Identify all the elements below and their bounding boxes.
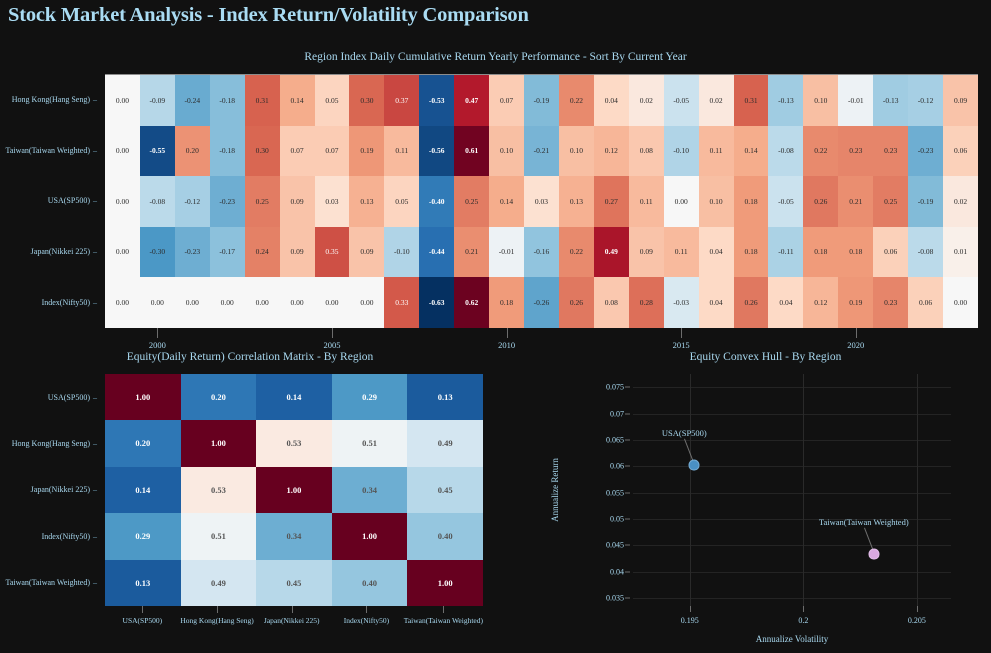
heatmap-cell: 0.31 — [734, 75, 769, 126]
correlation-cell: 0.13 — [105, 560, 181, 606]
correlation-cell: 0.53 — [181, 467, 257, 513]
correlation-cell: 0.20 — [105, 420, 181, 466]
heatmap-cell: 0.31 — [245, 75, 280, 126]
heatmap-cell: 0.26 — [803, 176, 838, 227]
heatmap-cell: 0.00 — [280, 277, 315, 328]
scatter-x-tick-label: 0.2 — [798, 616, 808, 625]
heatmap-cell: -0.44 — [419, 227, 454, 278]
heatmap-cell: 0.18 — [489, 277, 524, 328]
heatmap-cell: 0.62 — [454, 277, 489, 328]
correlation-cell: 0.45 — [256, 560, 332, 606]
scatter-point[interactable] — [689, 460, 700, 471]
heatmap-cell: -0.40 — [419, 176, 454, 227]
heatmap-cell: 0.22 — [559, 227, 594, 278]
correlation-row-label: Taiwan(Taiwan Weighted) — [0, 560, 102, 606]
correlation-row-label: Index(Nifty50) — [0, 513, 102, 559]
heatmap-cell: 0.23 — [838, 126, 873, 177]
heatmap-cell: 0.10 — [559, 126, 594, 177]
heatmap-grid: 0.00-0.09-0.24-0.180.310.140.050.300.37-… — [105, 74, 978, 328]
correlation-cell: 0.29 — [332, 374, 408, 420]
correlation-cell: 1.00 — [181, 420, 257, 466]
scatter-y-tick — [625, 387, 630, 388]
scatter-x-tick — [803, 606, 804, 612]
heatmap-cell: 0.14 — [734, 126, 769, 177]
scatter-gridline-v — [803, 374, 804, 606]
correlation-cell: 1.00 — [105, 374, 181, 420]
heatmap-cell: 0.18 — [803, 227, 838, 278]
correlation-column-label: Index(Nifty50) — [329, 606, 404, 630]
heatmap-cell: -0.13 — [768, 75, 803, 126]
heatmap-cell: 0.00 — [175, 277, 210, 328]
heatmap-cell: 0.26 — [559, 277, 594, 328]
correlation-cell: 0.29 — [105, 513, 181, 559]
heatmap-cell: 0.07 — [489, 75, 524, 126]
heatmap-cell: 0.19 — [838, 277, 873, 328]
heatmap-cell: 0.04 — [768, 277, 803, 328]
heatmap-cell: 0.27 — [594, 176, 629, 227]
heatmap-cell: 0.35 — [315, 227, 350, 278]
heatmap-cell: -0.08 — [140, 176, 175, 227]
heatmap-cell: -0.63 — [419, 277, 454, 328]
heatmap-cell: -0.03 — [664, 277, 699, 328]
heatmap-cell: -0.10 — [384, 227, 419, 278]
scatter-y-tick-label: 0.05 — [610, 515, 624, 524]
scatter-y-tick — [625, 492, 630, 493]
correlation-row-label: Hong Kong(Hang Seng) — [0, 420, 102, 466]
scatter-x-axis: 0.1950.20.205 — [633, 606, 951, 628]
heatmap-cell: 0.09 — [280, 227, 315, 278]
scatter-point-label: Taiwan(Taiwan Weighted) — [819, 517, 909, 527]
heatmap-cell: -0.23 — [908, 126, 943, 177]
heatmap-cell: 0.22 — [803, 126, 838, 177]
heatmap-cell: -0.18 — [210, 126, 245, 177]
correlation-matrix-panel: Equity(Daily Return) Correlation Matrix … — [0, 346, 500, 653]
correlation-cell: 0.14 — [105, 467, 181, 513]
heatmap-cell: 0.06 — [873, 227, 908, 278]
heatmap-cell: 0.00 — [315, 277, 350, 328]
scatter-y-tick-label: 0.075 — [606, 383, 624, 392]
correlation-cell: 0.49 — [407, 420, 483, 466]
heatmap-cell: 0.09 — [629, 227, 664, 278]
correlation-row-label: Japan(Nikkei 225) — [0, 467, 102, 513]
convex-hull-scatter-panel: Equity Convex Hull - By Region 0.0350.04… — [540, 346, 991, 653]
heatmap-cell: 0.28 — [629, 277, 664, 328]
correlation-column-label: Hong Kong(Hang Seng) — [180, 606, 255, 630]
page-title: Stock Market Analysis - Index Return/Vol… — [8, 4, 529, 27]
heatmap-cell: -0.17 — [210, 227, 245, 278]
correlation-cell: 0.51 — [332, 420, 408, 466]
heatmap-cell: 0.25 — [245, 176, 280, 227]
heatmap-cell: 0.09 — [349, 227, 384, 278]
correlation-row-labels: USA(SP500)Hong Kong(Hang Seng)Japan(Nikk… — [0, 374, 102, 606]
heatmap-cell: 0.12 — [594, 126, 629, 177]
heatmap-cell: -0.01 — [838, 75, 873, 126]
heatmap-cell: -0.24 — [175, 75, 210, 126]
correlation-cell: 0.34 — [332, 467, 408, 513]
scatter-y-tick — [625, 413, 630, 414]
heatmap-x-tick — [507, 328, 508, 338]
scatter-gridline-v — [917, 374, 918, 606]
heatmap-cell: 0.01 — [943, 227, 978, 278]
scatter-y-tick — [625, 598, 630, 599]
heatmap-cell: -0.23 — [175, 227, 210, 278]
scatter-y-tick — [625, 571, 630, 572]
heatmap-cell: 0.00 — [349, 277, 384, 328]
heatmap-cell: -0.53 — [419, 75, 454, 126]
heatmap-cell: 0.13 — [559, 176, 594, 227]
correlation-column-label: Taiwan(Taiwan Weighted) — [404, 606, 483, 630]
correlation-cell: 0.13 — [407, 374, 483, 420]
heatmap-cell: 0.19 — [349, 126, 384, 177]
heatmap-row-label: Index(Nifty50) — [0, 277, 102, 328]
heatmap-cell: -0.12 — [908, 75, 943, 126]
heatmap-cell: 0.00 — [210, 277, 245, 328]
heatmap-cell: 0.00 — [105, 176, 140, 227]
heatmap-row-label: Hong Kong(Hang Seng) — [0, 74, 102, 125]
heatmap-cell: 0.18 — [838, 227, 873, 278]
scatter-y-tick — [625, 519, 630, 520]
scatter-x-tick-label: 0.195 — [681, 616, 699, 625]
scatter-point[interactable] — [868, 549, 879, 560]
correlation-cell: 0.40 — [332, 560, 408, 606]
heatmap-cell: 0.02 — [629, 75, 664, 126]
heatmap-cell: -0.30 — [140, 227, 175, 278]
heatmap-cell: 0.02 — [699, 75, 734, 126]
heatmap-cell: 0.30 — [245, 126, 280, 177]
heatmap-cell: 0.00 — [105, 75, 140, 126]
heatmap-cell: 0.11 — [629, 176, 664, 227]
heatmap-cell: 0.00 — [664, 176, 699, 227]
heatmap-cell: 0.23 — [873, 126, 908, 177]
heatmap-cell: -0.08 — [768, 126, 803, 177]
scatter-x-tick-label: 0.205 — [908, 616, 926, 625]
scatter-y-tick-label: 0.07 — [610, 409, 624, 418]
heatmap-cell: 0.24 — [245, 227, 280, 278]
heatmap-cell: 0.11 — [699, 126, 734, 177]
correlation-cell: 0.20 — [181, 374, 257, 420]
heatmap-x-tick-label: 2010 — [498, 340, 515, 350]
scatter-plot-area: USA(SP500)Taiwan(Taiwan Weighted) — [633, 374, 951, 606]
heatmap-row-label: Taiwan(Taiwan Weighted) — [0, 125, 102, 176]
correlation-matrix-title: Equity(Daily Return) Correlation Matrix … — [0, 351, 500, 363]
yearly-return-heatmap-panel: Region Index Daily Cumulative Return Yea… — [0, 46, 991, 346]
heatmap-cell: 0.22 — [559, 75, 594, 126]
heatmap-cell: 0.00 — [105, 126, 140, 177]
correlation-cell: 0.34 — [256, 513, 332, 559]
scatter-y-tick-label: 0.04 — [610, 567, 624, 576]
heatmap-cell: 0.00 — [105, 227, 140, 278]
scatter-gridline-h — [633, 598, 951, 599]
scatter-y-tick — [625, 466, 630, 467]
scatter-x-tick — [690, 606, 691, 612]
heatmap-cell: -0.19 — [524, 75, 559, 126]
heatmap-cell: 0.07 — [280, 126, 315, 177]
heatmap-x-tick — [856, 328, 857, 338]
scatter-gridline-h — [633, 572, 951, 573]
scatter-gridline-h — [633, 414, 951, 415]
scatter-gridline-h — [633, 387, 951, 388]
scatter-x-axis-title: Annualize Volatility — [633, 634, 951, 644]
heatmap-cell: 0.08 — [629, 126, 664, 177]
heatmap-cell: 0.00 — [943, 277, 978, 328]
heatmap-cell: 0.37 — [384, 75, 419, 126]
scatter-y-tick-label: 0.045 — [606, 541, 624, 550]
heatmap-cell: 0.00 — [245, 277, 280, 328]
heatmap-cell: -0.08 — [908, 227, 943, 278]
heatmap-cell: 0.18 — [734, 227, 769, 278]
heatmap-cell: 0.04 — [594, 75, 629, 126]
heatmap-cell: -0.26 — [524, 277, 559, 328]
heatmap-cell: 0.18 — [734, 176, 769, 227]
heatmap-cell: -0.11 — [768, 227, 803, 278]
scatter-gridline-h — [633, 493, 951, 494]
scatter-y-tick-label: 0.035 — [606, 594, 624, 603]
correlation-cell: 0.14 — [256, 374, 332, 420]
scatter-y-tick-label: 0.065 — [606, 435, 624, 444]
heatmap-cell: 0.33 — [384, 277, 419, 328]
heatmap-cell: 0.61 — [454, 126, 489, 177]
heatmap-cell: 0.25 — [454, 176, 489, 227]
heatmap-x-tick — [332, 328, 333, 338]
heatmap-cell: 0.05 — [315, 75, 350, 126]
heatmap-cell: 0.21 — [838, 176, 873, 227]
heatmap-cell: 0.23 — [873, 277, 908, 328]
heatmap-cell: 0.10 — [489, 126, 524, 177]
correlation-cell: 0.53 — [256, 420, 332, 466]
correlation-cell: 0.40 — [407, 513, 483, 559]
heatmap-cell: 0.08 — [594, 277, 629, 328]
scatter-title: Equity Convex Hull - By Region — [540, 351, 991, 363]
heatmap-cell: 0.06 — [908, 277, 943, 328]
correlation-column-label: USA(SP500) — [105, 606, 180, 630]
heatmap-cell: -0.21 — [524, 126, 559, 177]
heatmap-cell: 0.00 — [105, 277, 140, 328]
correlation-cell: 0.45 — [407, 467, 483, 513]
heatmap-cell: 0.11 — [664, 227, 699, 278]
correlation-cell: 1.00 — [332, 513, 408, 559]
heatmap-row-label: Japan(Nikkei 225) — [0, 226, 102, 277]
correlation-cell: 0.49 — [181, 560, 257, 606]
heatmap-cell: 0.00 — [140, 277, 175, 328]
heatmap-row-labels: Hong Kong(Hang Seng)Taiwan(Taiwan Weight… — [0, 74, 102, 328]
scatter-gridline-h — [633, 440, 951, 441]
correlation-column-label: Japan(Nikkei 225) — [254, 606, 329, 630]
scatter-gridline-h — [633, 466, 951, 467]
heatmap-cell: -0.01 — [489, 227, 524, 278]
heatmap-cell: -0.05 — [768, 176, 803, 227]
heatmap-cell: 0.10 — [699, 176, 734, 227]
scatter-point-label: USA(SP500) — [662, 428, 707, 438]
heatmap-cell: -0.09 — [140, 75, 175, 126]
scatter-gridline-h — [633, 545, 951, 546]
heatmap-cell: -0.18 — [210, 75, 245, 126]
correlation-cell: 0.51 — [181, 513, 257, 559]
heatmap-cell: 0.04 — [699, 277, 734, 328]
scatter-y-axis-title: Annualize Return — [550, 458, 560, 522]
scatter-y-tick-label: 0.055 — [606, 488, 624, 497]
correlation-cell: 1.00 — [256, 467, 332, 513]
heatmap-cell: -0.55 — [140, 126, 175, 177]
heatmap-cell: 0.20 — [175, 126, 210, 177]
heatmap-cell: 0.02 — [943, 176, 978, 227]
heatmap-cell: 0.14 — [489, 176, 524, 227]
scatter-gridline-v — [690, 374, 691, 606]
heatmap-cell: 0.06 — [943, 126, 978, 177]
scatter-y-tick — [625, 439, 630, 440]
correlation-cell: 1.00 — [407, 560, 483, 606]
heatmap-cell: -0.12 — [175, 176, 210, 227]
heatmap-x-tick — [157, 328, 158, 338]
heatmap-cell: -0.56 — [419, 126, 454, 177]
heatmap-cell: 0.25 — [873, 176, 908, 227]
heatmap-cell: 0.49 — [594, 227, 629, 278]
heatmap-cell: 0.10 — [803, 75, 838, 126]
heatmap-cell: 0.21 — [454, 227, 489, 278]
heatmap-cell: 0.30 — [349, 75, 384, 126]
heatmap-x-tick — [681, 328, 682, 338]
scatter-x-tick — [917, 606, 918, 612]
heatmap-cell: 0.04 — [699, 227, 734, 278]
heatmap-cell: -0.13 — [873, 75, 908, 126]
heatmap-cell: 0.03 — [315, 176, 350, 227]
correlation-grid: 1.000.200.140.290.130.201.000.530.510.49… — [105, 374, 483, 606]
heatmap-cell: 0.11 — [384, 126, 419, 177]
heatmap-cell: 0.09 — [280, 176, 315, 227]
heatmap-cell: -0.19 — [908, 176, 943, 227]
heatmap-row-label: USA(SP500) — [0, 176, 102, 227]
scatter-y-tick — [625, 545, 630, 546]
scatter-y-tick-label: 0.06 — [610, 462, 624, 471]
heatmap-cell: -0.23 — [210, 176, 245, 227]
heatmap-cell: -0.05 — [664, 75, 699, 126]
heatmap-cell: 0.09 — [943, 75, 978, 126]
correlation-row-label: USA(SP500) — [0, 374, 102, 420]
heatmap-title: Region Index Daily Cumulative Return Yea… — [0, 51, 991, 63]
heatmap-cell: 0.05 — [384, 176, 419, 227]
heatmap-cell: 0.47 — [454, 75, 489, 126]
correlation-column-labels: USA(SP500)Hong Kong(Hang Seng)Japan(Nikk… — [105, 606, 483, 630]
heatmap-cell: 0.14 — [280, 75, 315, 126]
heatmap-cell: -0.16 — [524, 227, 559, 278]
heatmap-cell: -0.10 — [664, 126, 699, 177]
heatmap-cell: 0.03 — [524, 176, 559, 227]
heatmap-cell: 0.12 — [803, 277, 838, 328]
heatmap-cell: 0.13 — [349, 176, 384, 227]
heatmap-cell: 0.26 — [734, 277, 769, 328]
heatmap-cell: 0.07 — [315, 126, 350, 177]
